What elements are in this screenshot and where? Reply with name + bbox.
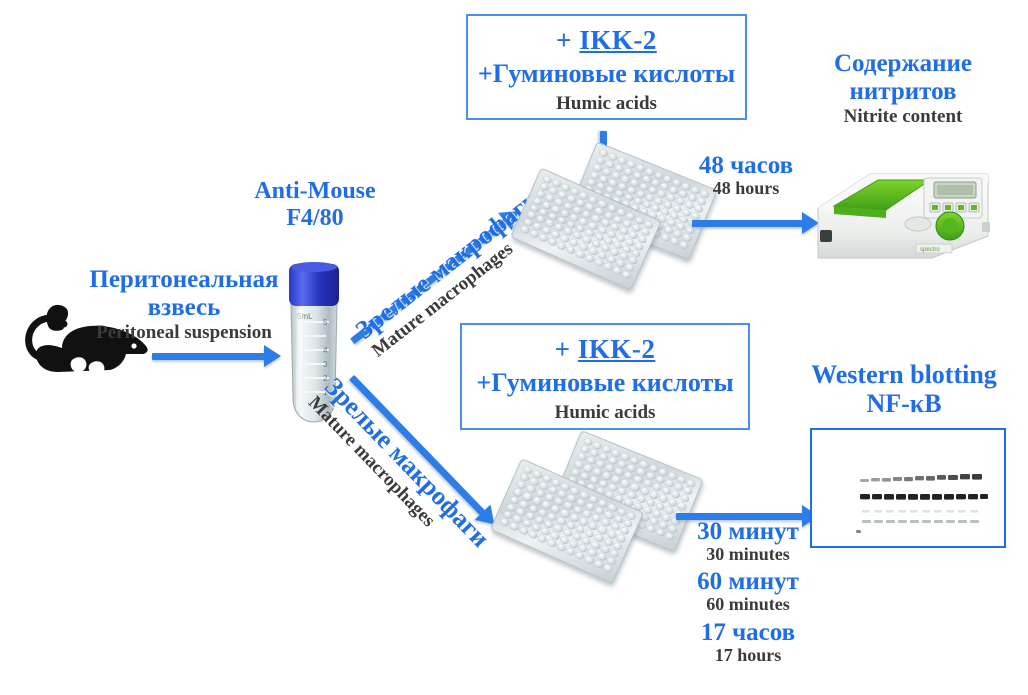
svg-text:3: 3 — [323, 360, 328, 369]
treatment-box-bottom: + IKK-2 +Гуминовые кислоты Humic acids — [460, 323, 750, 430]
antibody-line1: Anti-Mouse — [240, 178, 390, 205]
western-blot-line2: NF-κB — [790, 389, 1018, 418]
svg-text:2: 2 — [323, 374, 328, 383]
arrow-mouse-to-tube — [152, 345, 282, 367]
treatment-bottom-plus: + — [555, 334, 578, 364]
timepoint-3-en: 17 hours — [683, 646, 813, 665]
timepoint-2-ru: 60 минут — [683, 568, 813, 595]
svg-text:5: 5 — [323, 318, 328, 327]
incubation-top-label: 48 часов 48 hours — [682, 152, 810, 202]
timepoint-3-ru: 17 часов — [683, 619, 813, 646]
treatment-top-line3: Humic acids — [468, 93, 745, 115]
antibody-line2: F4/80 — [240, 205, 390, 232]
western-blot-membrane-icon — [810, 428, 1006, 548]
timepoint-2-en: 60 minutes — [683, 595, 813, 614]
treatment-bottom-line3: Humic acids — [462, 402, 748, 424]
treatment-bottom-line1: + IKK-2 — [462, 334, 748, 365]
incubation-bottom-labels: 30 минут 30 minutes 60 минут 60 minutes … — [683, 518, 813, 669]
diagram-canvas: Перитонеальная взвесь Peritoneal suspens… — [0, 0, 1028, 695]
antibody-label: Anti-Mouse F4/80 — [240, 178, 390, 232]
suspension-en: Peritoneal suspension — [82, 322, 286, 343]
incubation-top-en: 48 hours — [682, 179, 810, 198]
suspension-ru-line1: Перитонеальная — [82, 266, 286, 294]
incubation-top-ru: 48 часов — [682, 152, 810, 179]
treatment-top-line2: +Гуминовые кислоты — [468, 59, 745, 89]
nitrite-ru-line1: Содержание — [790, 50, 1016, 78]
nitrite-ru-line2: нитритов — [790, 78, 1016, 106]
treatment-box-top: + IKK-2 +Гуминовые кислоты Humic acids — [466, 14, 747, 120]
treatment-bottom-agent: IKK-2 — [578, 334, 656, 364]
timepoint-1-en: 30 minutes — [683, 545, 813, 564]
treatment-top-plus: + — [556, 25, 579, 55]
svg-text:4: 4 — [323, 346, 328, 355]
western-blot-label: Western blotting NF-κB — [790, 360, 1018, 418]
treatment-top-agent: IKK-2 — [579, 25, 657, 55]
nitrite-content-label: Содержание нитритов Nitrite content — [790, 50, 1016, 127]
microplates-bottom — [500, 452, 700, 570]
treatment-bottom-line2: +Гуминовые кислоты — [462, 368, 748, 398]
svg-text:spectro: spectro — [920, 247, 940, 253]
treatment-top-line1: + IKK-2 — [468, 25, 745, 56]
timepoint-1-ru: 30 минут — [683, 518, 813, 545]
suspension-ru-line2: взвесь — [82, 294, 286, 322]
arrow-to-spectrophotometer — [692, 212, 820, 234]
spectrophotometer-icon: spectro — [812, 162, 994, 270]
peritoneal-suspension-label: Перитонеальная взвесь Peritoneal suspens… — [82, 266, 286, 343]
western-blot-line1: Western blotting — [790, 360, 1018, 389]
nitrite-en: Nitrite content — [790, 106, 1016, 127]
blot-lanes — [812, 430, 1004, 546]
